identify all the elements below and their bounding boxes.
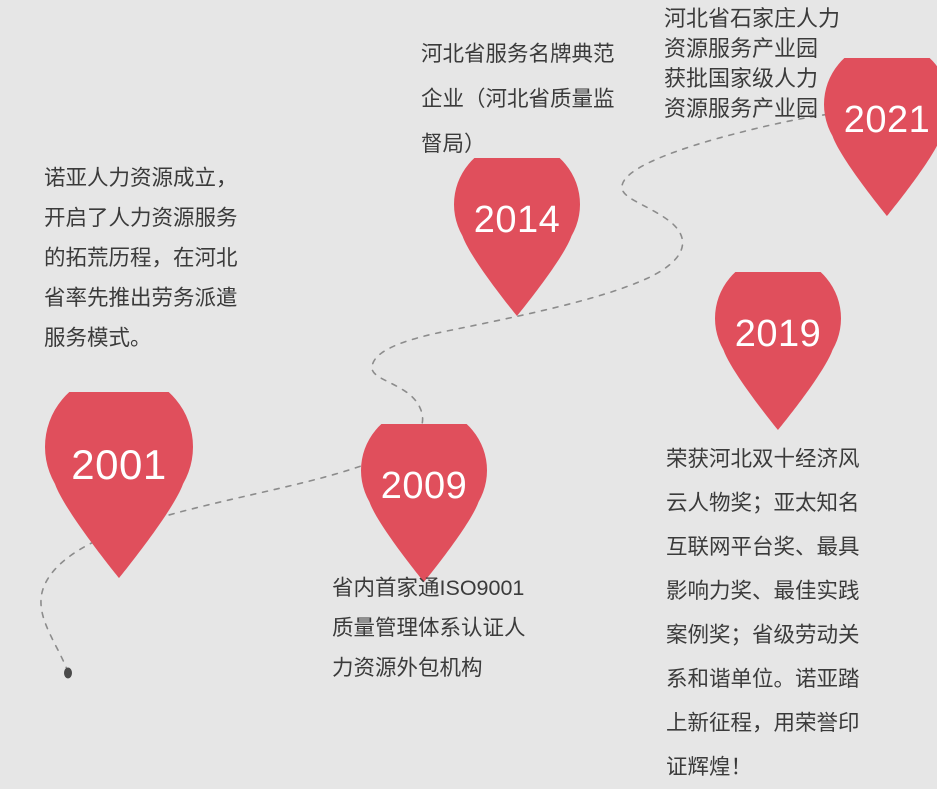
milestone-pin-2021[interactable]: 2021 — [824, 58, 937, 216]
timeline-infographic: 诺亚人力资源成立， 开启了人力资源服务 的拓荒历程，在河北 省率先推出劳务派遣 … — [0, 0, 937, 763]
path-start-dot — [64, 668, 72, 679]
milestone-pin-2014[interactable]: 2014 — [454, 158, 580, 316]
milestone-pin-2001[interactable]: 2001 — [45, 392, 193, 578]
milestone-year-2009: 2009 — [361, 467, 487, 505]
milestone-description-2001: 诺亚人力资源成立， 开启了人力资源服务 的拓荒历程，在河北 省率先推出劳务派遣 … — [44, 158, 276, 358]
milestone-year-2014: 2014 — [454, 201, 580, 239]
milestone-year-2001: 2001 — [45, 444, 193, 486]
milestone-description-2014: 河北省服务名牌典范 企业（河北省质量监 督局） — [421, 32, 635, 167]
milestone-description-2019: 荣获河北双十经济风 云人物奖；亚太知名 互联网平台奖、最具 影响力奖、最佳实践 … — [666, 437, 894, 789]
milestone-pin-2009[interactable]: 2009 — [361, 424, 487, 582]
milestone-description-2009: 省内首家通ISO9001 质量管理体系认证人 力资源外包机构 — [332, 568, 562, 688]
milestone-year-2019: 2019 — [715, 315, 841, 353]
milestone-pin-2019[interactable]: 2019 — [715, 272, 841, 430]
milestone-year-2021: 2021 — [824, 101, 937, 139]
